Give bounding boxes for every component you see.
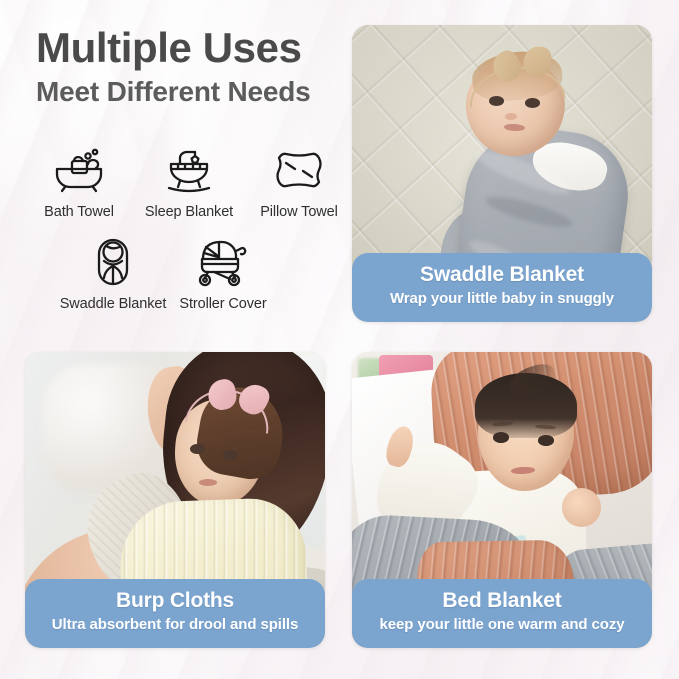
swaddle-blanket-card[interactable]: Swaddle Blanket Wrap your little baby in… bbox=[352, 25, 652, 322]
swaddled-baby-icon bbox=[93, 234, 133, 290]
caption-title: Swaddle Blanket bbox=[360, 263, 644, 287]
pillow-icon bbox=[272, 142, 326, 198]
feature-row-1: Bath Towel Sleep Blanket bbox=[24, 142, 354, 220]
baby-eye-right bbox=[538, 435, 554, 446]
feature-label: Swaddle Blanket bbox=[60, 296, 167, 312]
feature-label: Sleep Blanket bbox=[145, 204, 233, 220]
feature-label: Bath Towel bbox=[44, 204, 114, 220]
baby-eye-left bbox=[493, 432, 509, 443]
caption-subtitle: Wrap your little baby in snuggly bbox=[360, 290, 644, 308]
feature-item-pillow-towel: Pillow Towel bbox=[244, 142, 354, 220]
card-caption: Swaddle Blanket Wrap your little baby in… bbox=[352, 253, 652, 322]
feature-item-sleep-blanket: Sleep Blanket bbox=[134, 142, 244, 220]
bath-basin-icon bbox=[52, 142, 106, 198]
feature-item-swaddle-blanket: Swaddle Blanket bbox=[58, 234, 168, 312]
card-caption: Burp Cloths Ultra absorbent for drool an… bbox=[25, 579, 325, 648]
feature-label: Stroller Cover bbox=[179, 296, 266, 312]
infographic-page: Multiple Uses Meet Different Needs bbox=[0, 0, 679, 679]
card-caption: Bed Blanket keep your little one warm an… bbox=[352, 579, 652, 648]
caption-title: Burp Cloths bbox=[33, 589, 317, 613]
cradle-icon bbox=[163, 142, 215, 198]
page-title: Multiple Uses bbox=[36, 26, 366, 70]
feature-item-stroller-cover: Stroller Cover bbox=[168, 234, 278, 312]
stroller-icon bbox=[194, 234, 252, 290]
page-subtitle: Meet Different Needs bbox=[36, 77, 366, 108]
burp-cloths-card[interactable]: Burp Cloths Ultra absorbent for drool an… bbox=[25, 352, 325, 648]
feature-list: Bath Towel Sleep Blanket bbox=[24, 142, 354, 312]
caption-title: Bed Blanket bbox=[360, 589, 644, 613]
caption-subtitle: keep your little one warm and cozy bbox=[360, 616, 644, 634]
feature-item-bath-towel: Bath Towel bbox=[24, 142, 134, 220]
feature-label: Pillow Towel bbox=[260, 204, 338, 220]
baby-eye-right bbox=[525, 98, 541, 108]
caption-subtitle: Ultra absorbent for drool and spills bbox=[33, 616, 317, 634]
baby-hand-right bbox=[562, 488, 601, 526]
feature-row-2: Swaddle Blanket bbox=[24, 234, 354, 312]
headline-block: Multiple Uses Meet Different Needs bbox=[36, 26, 366, 108]
baby-mouth bbox=[199, 479, 217, 486]
bed-blanket-card[interactable]: Bed Blanket keep your little one warm an… bbox=[352, 352, 652, 648]
